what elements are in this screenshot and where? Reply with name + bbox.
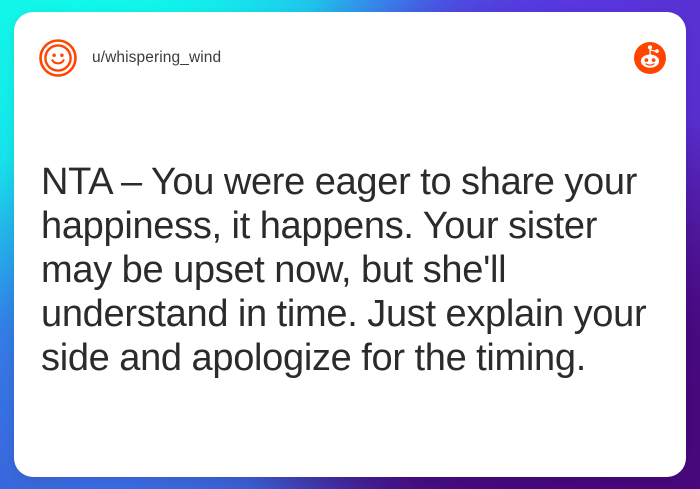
smiley-face-avatar-icon[interactable] [38, 38, 78, 78]
reddit-snoo-icon[interactable] [634, 42, 666, 74]
card-header: u/whispering_wind [14, 32, 686, 84]
post-body-text: NTA – You were eager to share your happi… [41, 160, 660, 380]
reddit-comment-card: u/whispering_wind NTA – You were eager t… [14, 12, 686, 477]
username-label: u/whispering_wind [92, 50, 221, 66]
